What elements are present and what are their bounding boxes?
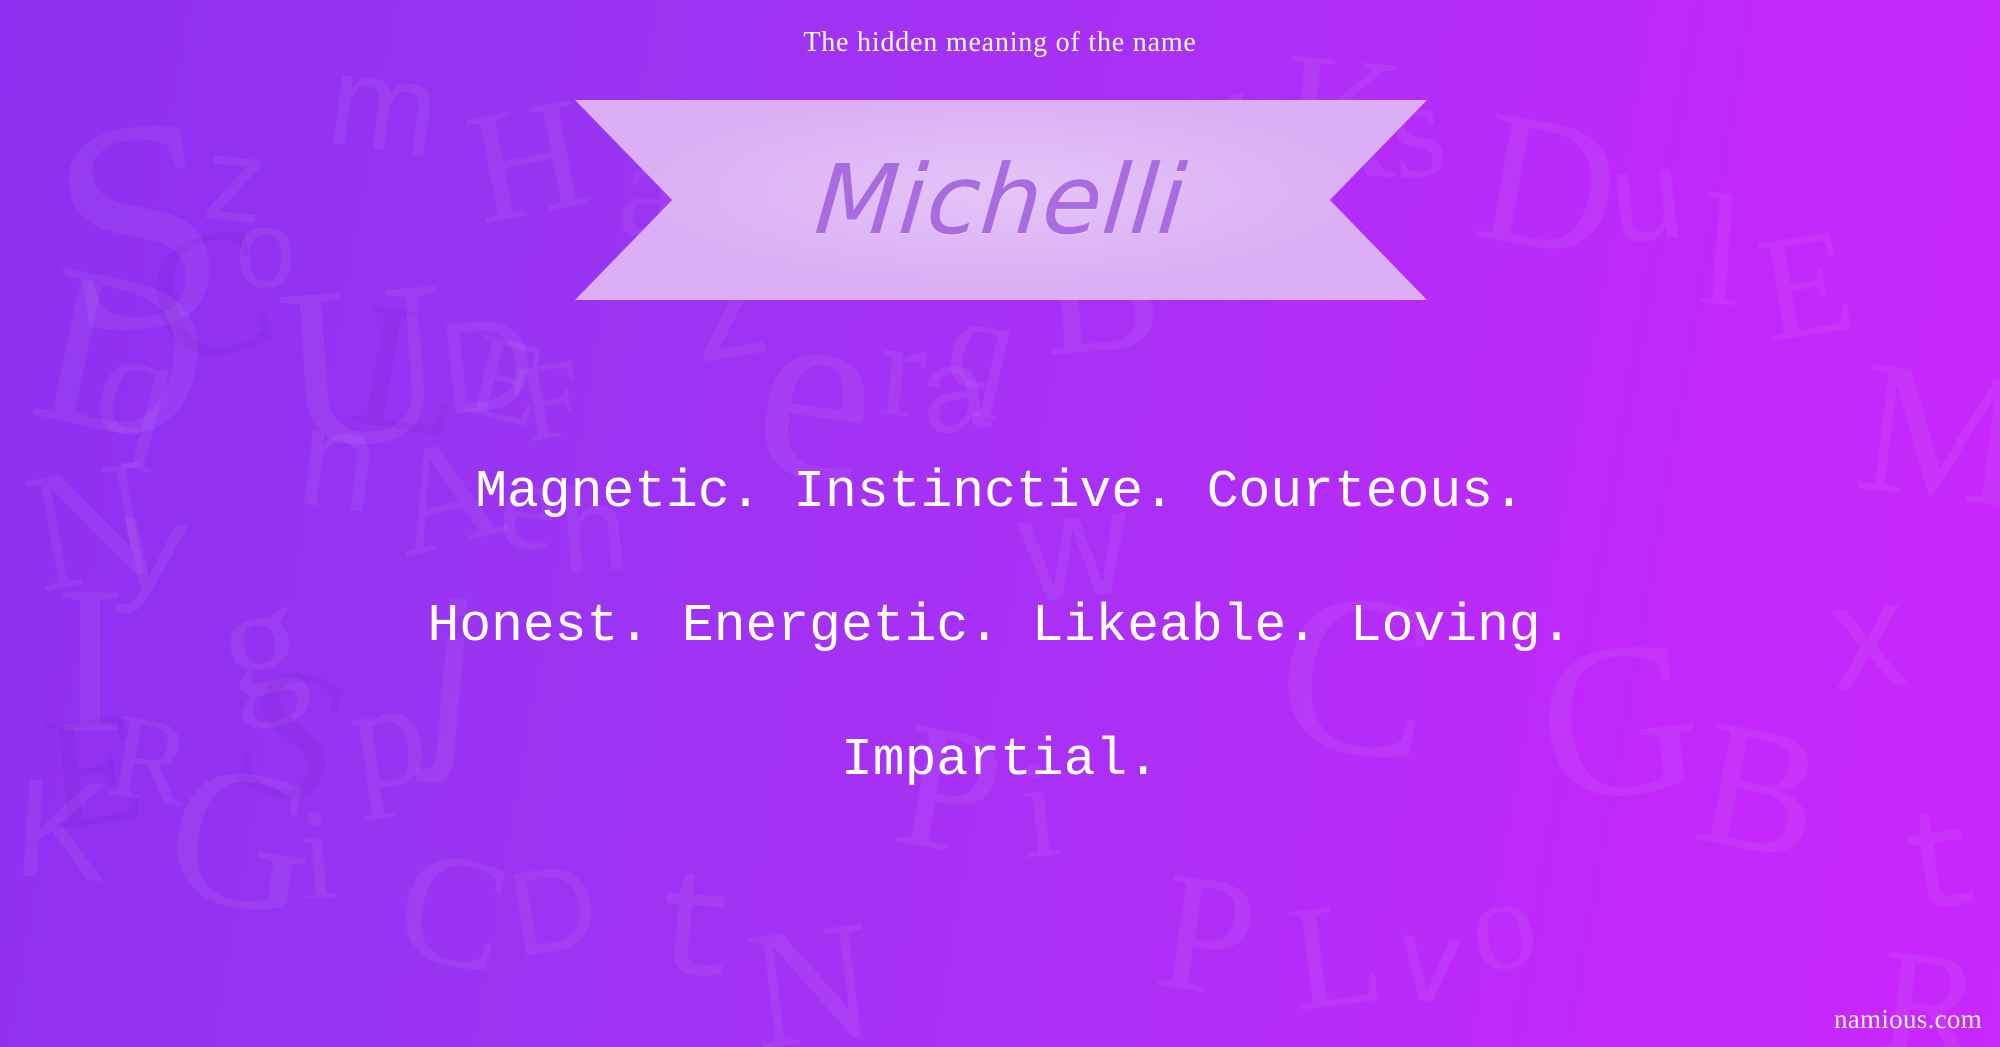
name-meaning-graphic: SDzCoqNyIERKgSjpULDEFnAehGiCDtNPiezraqBf… (0, 0, 2000, 1047)
site-watermark: namious.com (1834, 1004, 1982, 1035)
meaning-line: Magnetic. Instinctive. Courteous. (0, 425, 2000, 559)
banner-name: Michelli (811, 144, 1191, 256)
meaning-line: Impartial. (0, 693, 2000, 827)
page-title: The hidden meaning of the name (0, 27, 2000, 59)
name-ribbon-banner: Michelli (575, 100, 1427, 300)
meaning-text-block: Magnetic. Instinctive. Courteous. Honest… (0, 425, 2000, 827)
meaning-line: Honest. Energetic. Likeable. Loving. (0, 559, 2000, 693)
